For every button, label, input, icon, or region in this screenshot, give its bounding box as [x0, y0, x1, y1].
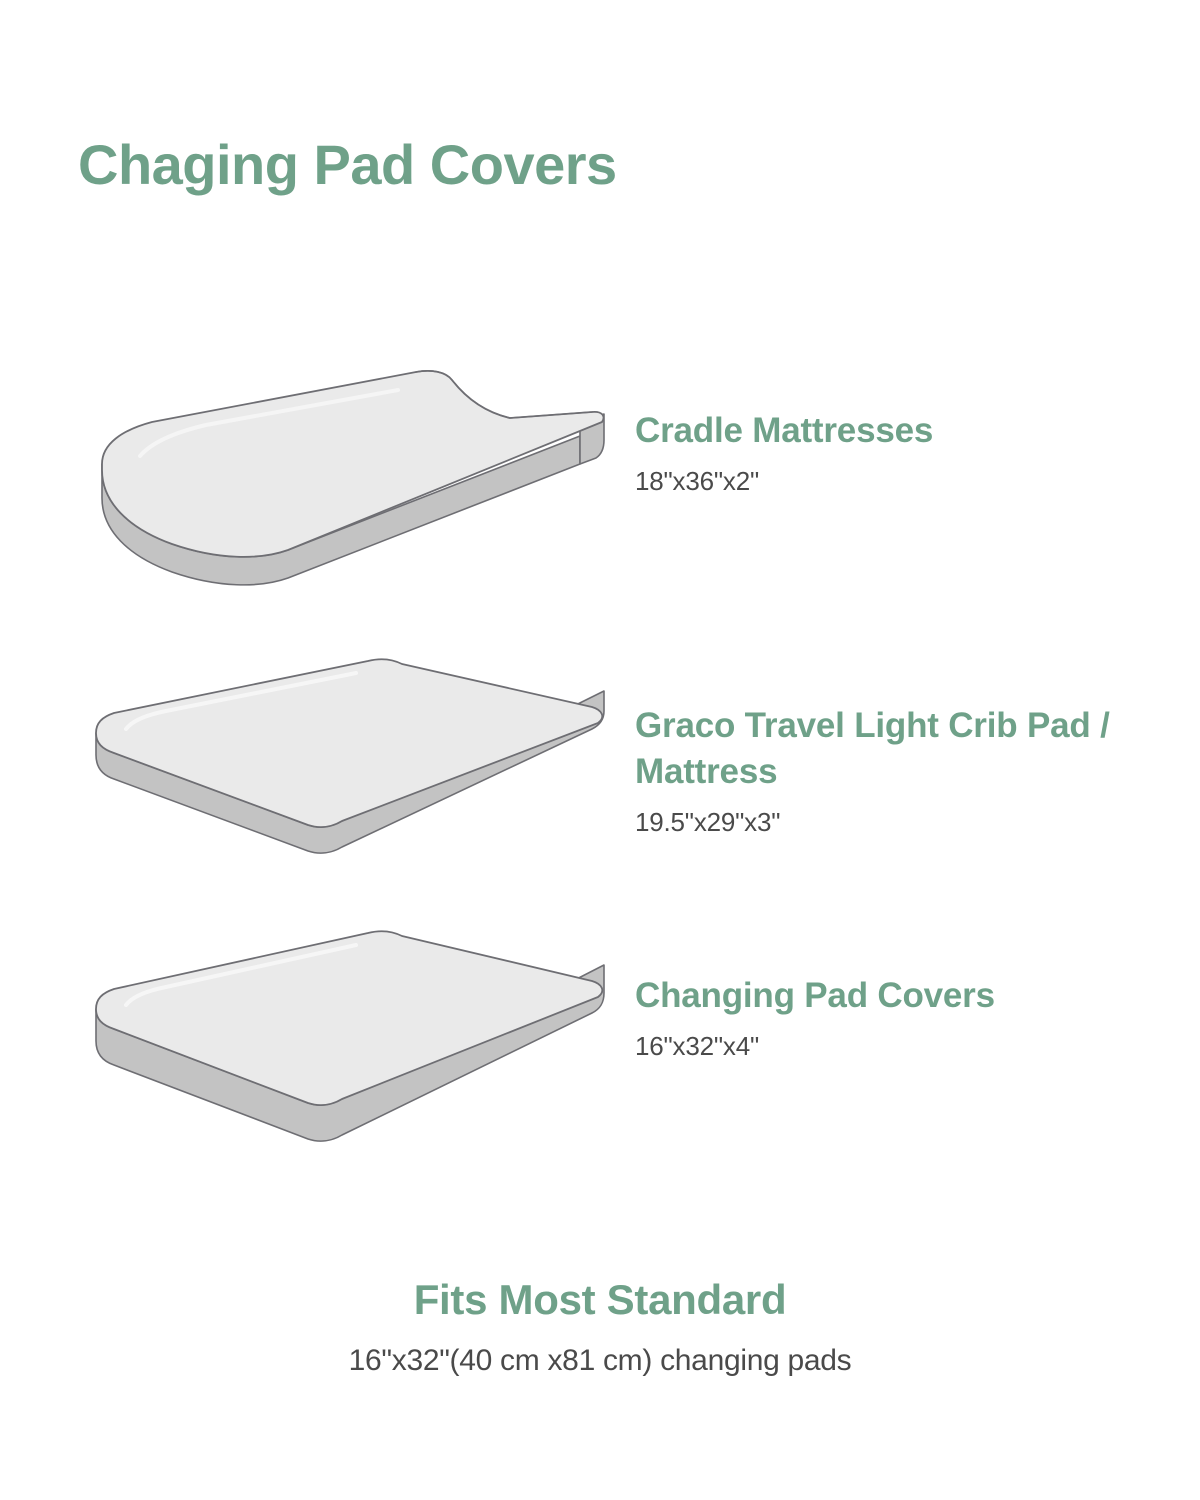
product-row-cradle-mattresses: Cradle Mattresses 18"x36"x2": [0, 360, 1200, 620]
item-title: Graco Travel Light Crib Pad / Mattress: [635, 703, 1175, 795]
contoured-changing-pad-illustration: [80, 360, 620, 620]
label-block-cradle-mattresses: Cradle Mattresses 18"x36"x2": [635, 408, 1175, 499]
item-dimensions: 16"x32"x4": [635, 1029, 1175, 1064]
label-block-graco-travel-light-crib: Graco Travel Light Crib Pad / Mattress 1…: [635, 703, 1175, 840]
product-row-graco-travel-light-crib: Graco Travel Light Crib Pad / Mattress 1…: [0, 655, 1200, 915]
item-title: Changing Pad Covers: [635, 973, 1175, 1019]
thick-mattress-illustration: [80, 925, 620, 1185]
label-block-changing-pad-covers: Changing Pad Covers 16"x32"x4": [635, 973, 1175, 1064]
product-size-infographic: Chaging Pad Covers Cradle Mattresses 18"…: [0, 0, 1200, 1500]
flat-mattress-illustration: [80, 655, 620, 915]
item-dimensions: 19.5"x29"x3": [635, 805, 1175, 840]
item-title: Cradle Mattresses: [635, 408, 1175, 454]
item-dimensions: 18"x36"x2": [635, 464, 1175, 499]
footer-subtitle: 16"x32"(40 cm x81 cm) changing pads: [0, 1341, 1200, 1380]
footer-block: Fits Most Standard 16"x32"(40 cm x81 cm)…: [0, 1275, 1200, 1380]
product-row-changing-pad-covers: Changing Pad Covers 16"x32"x4": [0, 925, 1200, 1185]
page-title: Chaging Pad Covers: [78, 136, 617, 195]
footer-title: Fits Most Standard: [0, 1275, 1200, 1325]
